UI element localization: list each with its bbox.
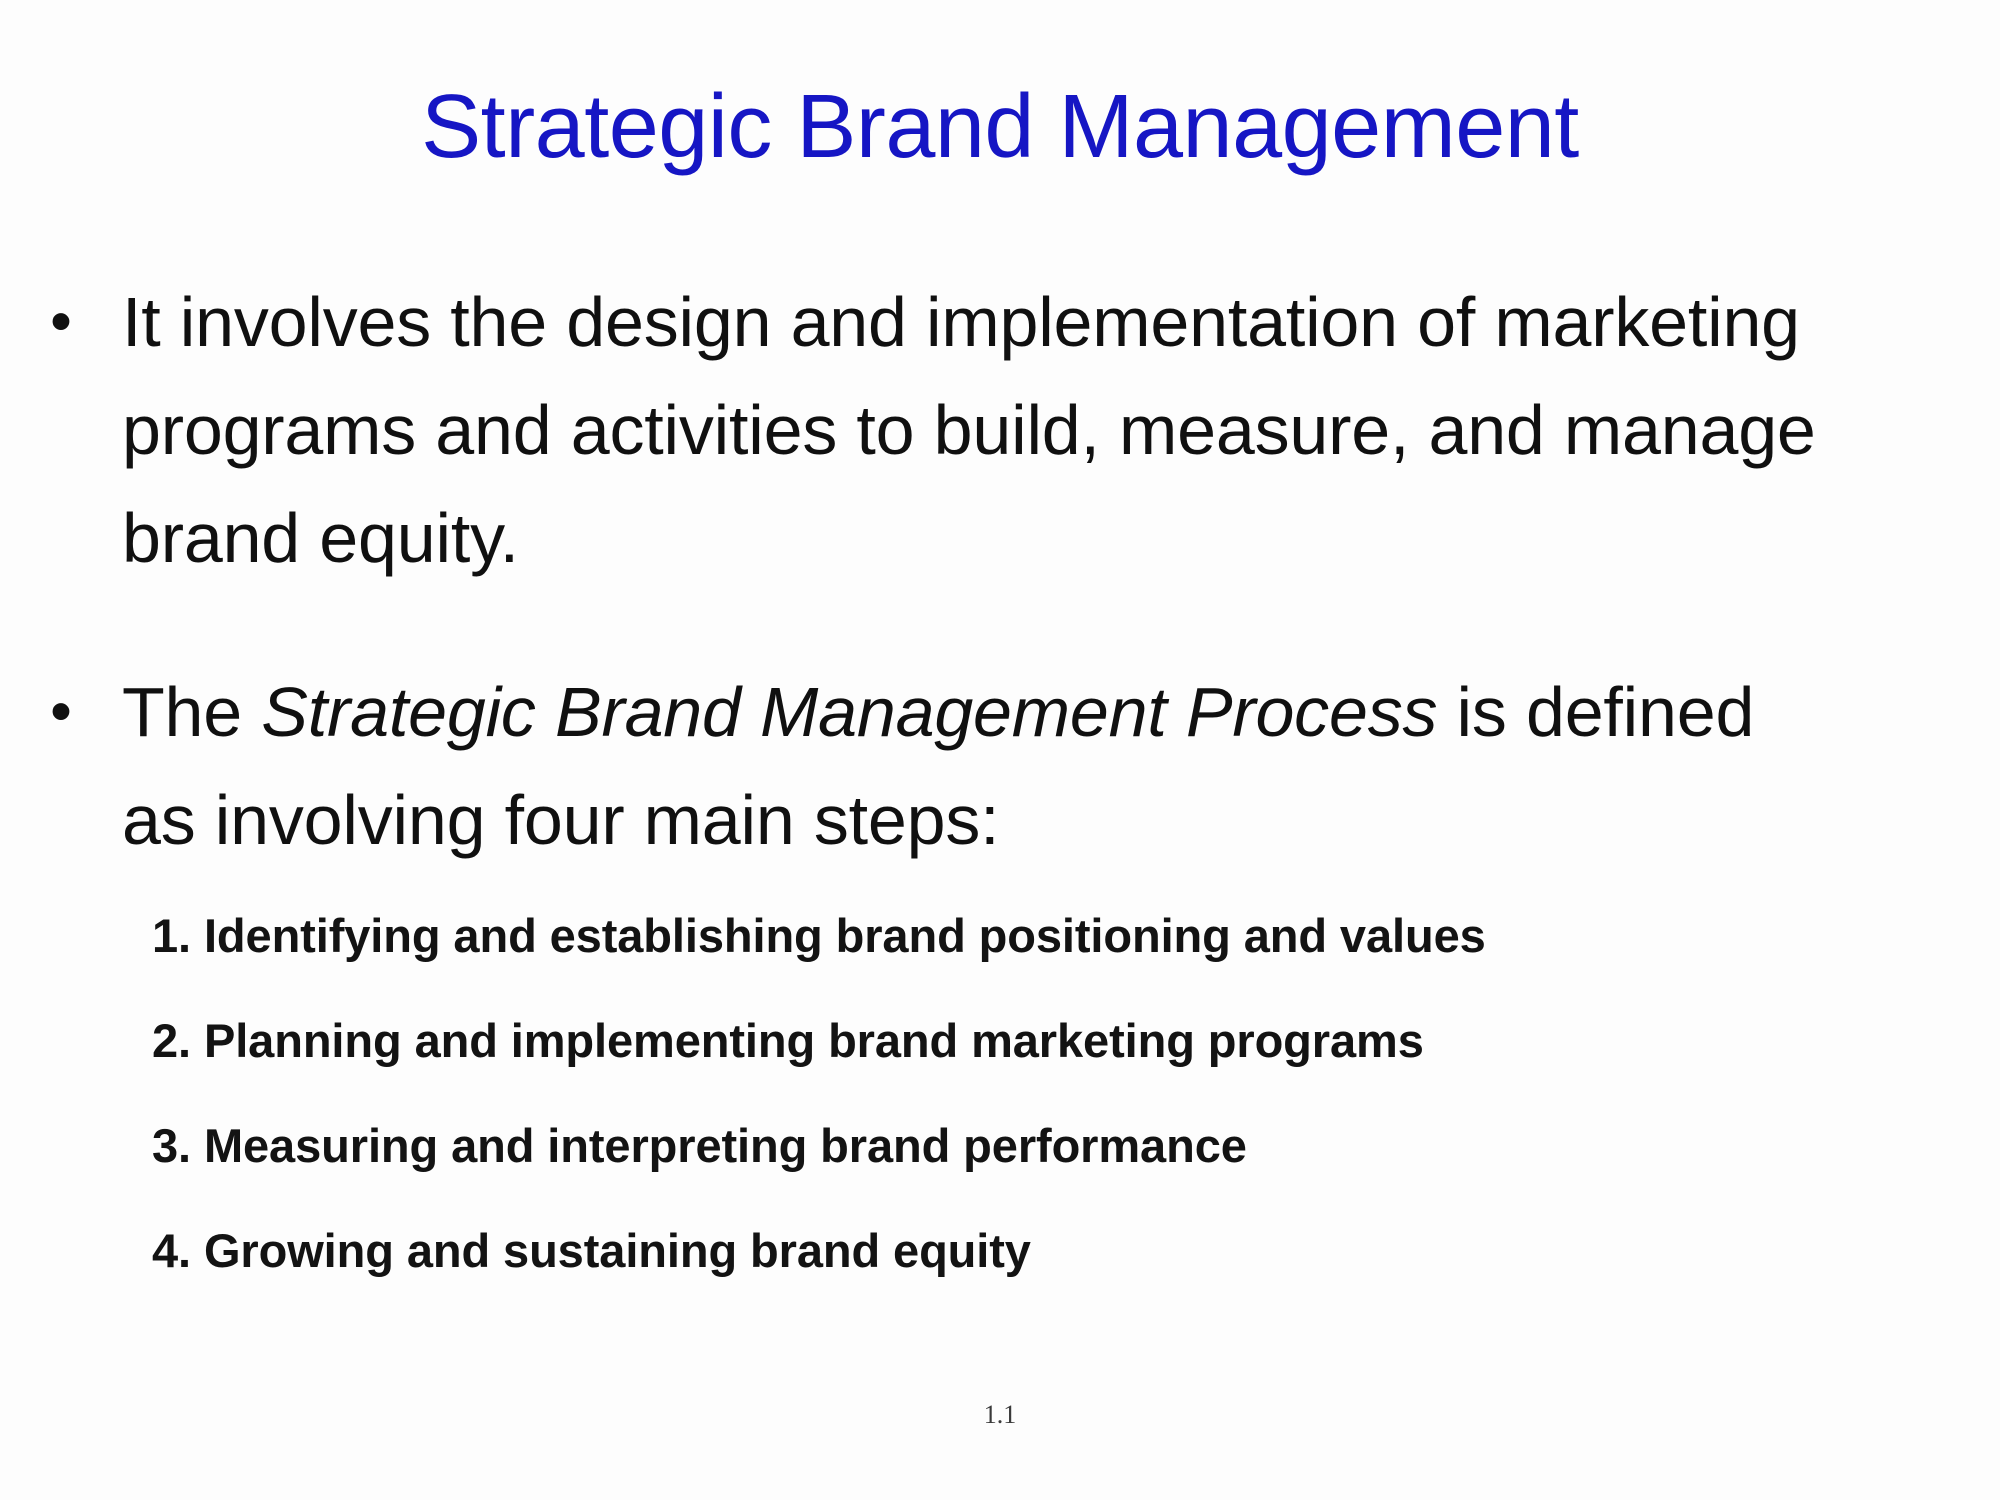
list-item: • It involves the design and implementat…	[0, 268, 2000, 592]
bullet-2-prefix: The	[122, 673, 261, 751]
bullet-1-body: It involves the design and implementatio…	[122, 283, 1816, 577]
step-label-3: Measuring and interpreting brand perform…	[204, 1119, 1247, 1172]
step-number-1: 1.	[152, 909, 191, 962]
step-label-1: Identifying and establishing brand posit…	[204, 909, 1486, 962]
list-item: 1. Identifying and establishing brand po…	[152, 912, 1952, 959]
step-label-2: Planning and implementing brand marketin…	[204, 1014, 1424, 1067]
step-number-3: 3.	[152, 1119, 191, 1172]
step-number-2: 2.	[152, 1014, 191, 1067]
slide-canvas: Strategic Brand Management • It involves…	[0, 0, 2000, 1500]
slide-number: 1.1	[0, 1400, 2000, 1430]
bullet-2-emphasis: Strategic Brand Management Process	[261, 673, 1437, 751]
bullet-text-1: It involves the design and implementatio…	[122, 268, 1822, 592]
step-number-4: 4.	[152, 1224, 191, 1277]
list-item: 4. Growing and sustaining brand equity	[152, 1227, 1952, 1274]
numbered-steps-list: 1. Identifying and establishing brand po…	[152, 912, 1952, 1332]
bullet-list: • It involves the design and implementat…	[0, 268, 2000, 940]
bullet-point-icon: •	[0, 658, 122, 766]
bullet-point-icon: •	[0, 268, 122, 376]
bullet-text-2: The Strategic Brand Management Process i…	[122, 658, 1822, 874]
list-item: • The Strategic Brand Management Process…	[0, 658, 2000, 874]
step-label-4: Growing and sustaining brand equity	[204, 1224, 1031, 1277]
list-item: 2. Planning and implementing brand marke…	[152, 1017, 1952, 1064]
page-title: Strategic Brand Management	[0, 82, 2000, 172]
list-item: 3. Measuring and interpreting brand perf…	[152, 1122, 1952, 1169]
